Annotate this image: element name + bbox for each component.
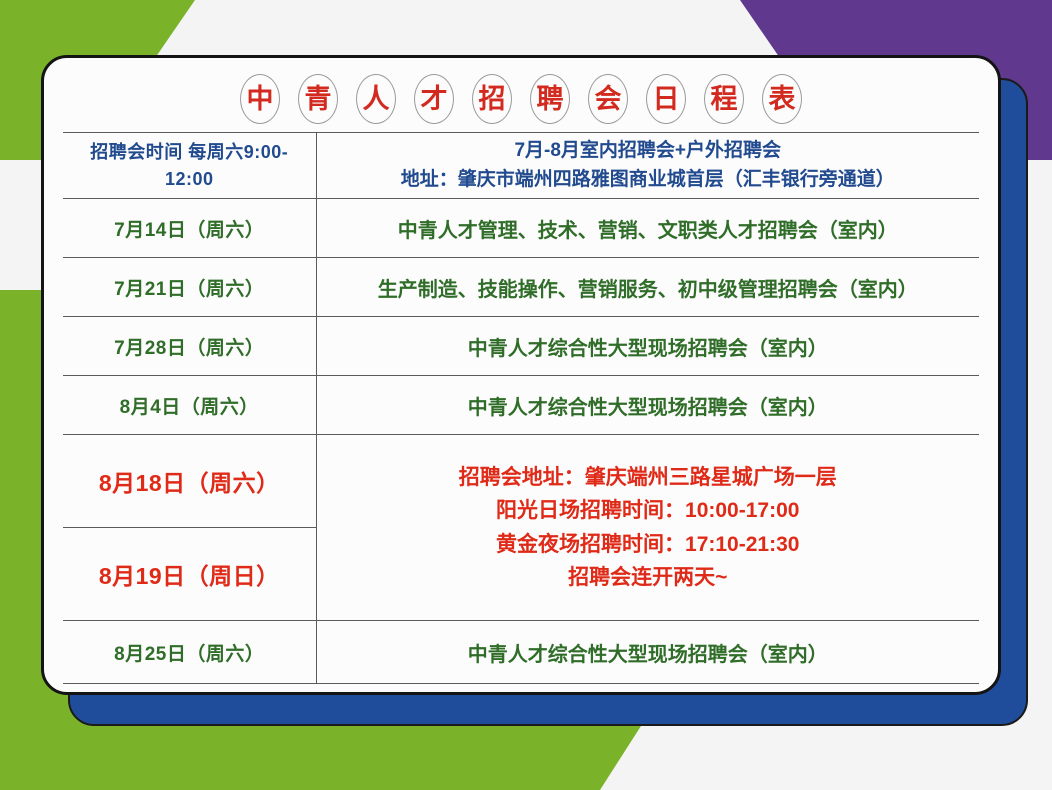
contact-phone: 联系电话：0758-2268980,2208377 bbox=[63, 684, 979, 696]
row-date-1: 7月21日（周六） bbox=[63, 258, 316, 317]
table-row: 7月14日（周六） 中青人才管理、技术、营销、文职类人才招聘会（室内） bbox=[63, 199, 979, 258]
header-info-line1: 7月-8月室内招聘会+户外招聘会 bbox=[323, 137, 974, 166]
title-char-9: 表 bbox=[762, 74, 802, 124]
table-header-row: 招聘会时间 每周六9:00-12:00 7月-8月室内招聘会+户外招聘会 地址：… bbox=[63, 133, 979, 199]
header-time-label: 招聘会时间 bbox=[90, 142, 183, 162]
title-char-6: 会 bbox=[588, 74, 628, 124]
special-body-line-3: 招聘会连开两天~ bbox=[323, 561, 974, 594]
header-time-cell: 招聘会时间 每周六9:00-12:00 bbox=[63, 133, 316, 199]
title-char-2: 人 bbox=[356, 74, 396, 124]
schedule-card: 中 青 人 才 招 聘 会 日 程 表 招聘会时间 每周六9:00-12:00 bbox=[41, 55, 1001, 695]
table-row: 8月4日（周六） 中青人才综合性大型现场招聘会（室内） bbox=[63, 376, 979, 435]
table-row: 7月21日（周六） 生产制造、技能操作、营销服务、初中级管理招聘会（室内） bbox=[63, 258, 979, 317]
row-date-last: 8月25日（周六） bbox=[63, 621, 316, 684]
table-footer-row: 联系电话：0758-2268980,2208377 bbox=[63, 684, 979, 696]
row-date-2: 7月28日（周六） bbox=[63, 317, 316, 376]
poster-title: 中 青 人 才 招 聘 会 日 程 表 bbox=[44, 66, 998, 132]
title-char-0: 中 bbox=[240, 74, 280, 124]
header-info-cell: 7月-8月室内招聘会+户外招聘会 地址：肇庆市端州四路雅图商业城首层（汇丰银行旁… bbox=[316, 133, 979, 199]
table-row: 8月25日（周六） 中青人才综合性大型现场招聘会（室内） bbox=[63, 621, 979, 684]
row-body-3: 中青人才综合性大型现场招聘会（室内） bbox=[316, 376, 979, 435]
special-body-line-1: 阳光日场招聘时间：10:00-17:00 bbox=[323, 494, 974, 527]
special-body-cell: 招聘会地址：肇庆端州三路星城广场一层 阳光日场招聘时间：10:00-17:00 … bbox=[316, 435, 979, 621]
row-date-0: 7月14日（周六） bbox=[63, 199, 316, 258]
special-date-2: 8月19日（周日） bbox=[63, 528, 316, 621]
title-char-5: 聘 bbox=[530, 74, 570, 124]
header-time-value: 每周六9:00-12:00 bbox=[165, 142, 288, 188]
table-row-special-first: 8月18日（周六） 招聘会地址：肇庆端州三路星城广场一层 阳光日场招聘时间：10… bbox=[63, 435, 979, 528]
table-row: 7月28日（周六） 中青人才综合性大型现场招聘会（室内） bbox=[63, 317, 979, 376]
title-char-7: 日 bbox=[646, 74, 686, 124]
row-body-1: 生产制造、技能操作、营销服务、初中级管理招聘会（室内） bbox=[316, 258, 979, 317]
header-info-line2: 地址：肇庆市端州四路雅图商业城首层（汇丰银行旁通道） bbox=[323, 166, 974, 195]
title-char-4: 招 bbox=[472, 74, 512, 124]
row-body-2: 中青人才综合性大型现场招聘会（室内） bbox=[316, 317, 979, 376]
row-body-last: 中青人才综合性大型现场招聘会（室内） bbox=[316, 621, 979, 684]
title-char-1: 青 bbox=[298, 74, 338, 124]
special-date-1: 8月18日（周六） bbox=[63, 435, 316, 528]
title-char-3: 才 bbox=[414, 74, 454, 124]
special-body-line-2: 黄金夜场招聘时间：17:10-21:30 bbox=[323, 528, 974, 561]
title-char-8: 程 bbox=[704, 74, 744, 124]
row-date-3: 8月4日（周六） bbox=[63, 376, 316, 435]
schedule-table: 招聘会时间 每周六9:00-12:00 7月-8月室内招聘会+户外招聘会 地址：… bbox=[63, 132, 979, 695]
poster-canvas: 中 青 人 才 招 聘 会 日 程 表 招聘会时间 每周六9:00-12:00 bbox=[0, 0, 1052, 790]
special-body-line-0: 招聘会地址：肇庆端州三路星城广场一层 bbox=[323, 461, 974, 494]
row-body-0: 中青人才管理、技术、营销、文职类人才招聘会（室内） bbox=[316, 199, 979, 258]
